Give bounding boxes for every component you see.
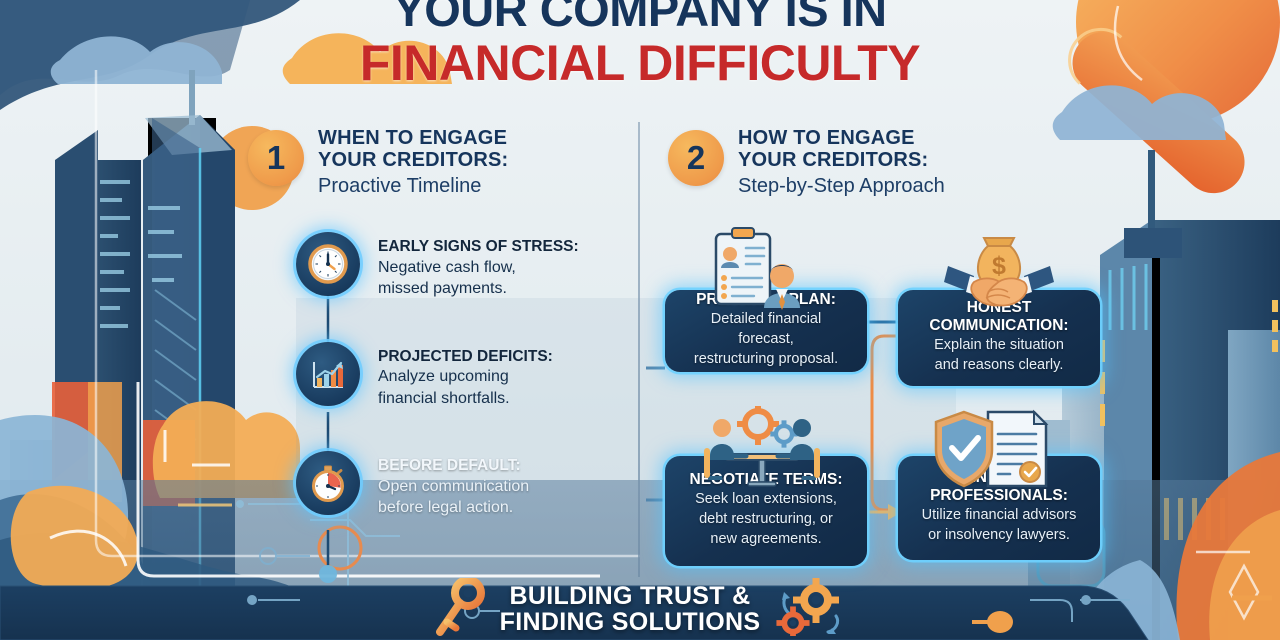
- section-number-badge-2: 2: [668, 130, 724, 186]
- timeline-item: BEFORE DEFAULT: Open communication befor…: [296, 451, 579, 519]
- banner-line-1: BUILDING TRUST &: [500, 583, 761, 610]
- stopwatch-icon: [296, 451, 360, 515]
- section-title-2-line-1: HOW TO ENGAGE: [738, 127, 945, 149]
- handshake-money-bag-icon: $: [940, 226, 1058, 317]
- shield-check-document-icon: [930, 406, 1056, 499]
- section-header-1: 1 WHEN TO ENGAGE YOUR CREDITORS: Proacti…: [248, 126, 508, 198]
- svg-text:$: $: [992, 252, 1006, 280]
- clock-icon: [296, 232, 360, 296]
- title-line-2: FINANCIAL DIFFICULTY: [0, 37, 1280, 90]
- title-line-1: YOUR COMPANY IS IN: [0, 0, 1280, 33]
- section-title-1-line-1: WHEN TO ENGAGE: [318, 127, 508, 149]
- timeline-item-desc-line-2: financial shortfalls.: [378, 389, 553, 409]
- card-desc-line-3: restructuring proposal.: [674, 351, 858, 369]
- section-subtitle-2: Step-by-Step Approach: [738, 174, 945, 198]
- section-header-2: 2 HOW TO ENGAGE YOUR CREDITORS: Step-by-…: [668, 126, 945, 198]
- card-desc-line-2: or insolvency lawyers.: [907, 527, 1091, 545]
- card-title-line-2: COMMUNICATION:: [907, 317, 1091, 335]
- negotiation-table-gears-icon: [700, 406, 824, 499]
- bottom-banner: BUILDING TRUST & FINDING SOLUTIONS: [0, 578, 1280, 640]
- banner-line-2: FINDING SOLUTIONS: [500, 609, 761, 636]
- bar-chart-growth-icon: [296, 342, 360, 406]
- timeline-list: EARLY SIGNS OF STRESS: Negative cash flo…: [296, 232, 579, 519]
- page-title: YOUR COMPANY IS IN FINANCIAL DIFFICULTY: [0, 0, 1280, 90]
- section-title-1-line-2: YOUR CREDITORS:: [318, 149, 508, 171]
- section-title-2-line-2: YOUR CREDITORS:: [738, 149, 945, 171]
- timeline-item-desc-line-1: Analyze upcoming: [378, 367, 553, 387]
- card-desc-line-2: forecast,: [674, 331, 858, 349]
- timeline-item-heading: PROJECTED DEFICITS:: [378, 348, 553, 367]
- timeline-item: EARLY SIGNS OF STRESS: Negative cash flo…: [296, 232, 579, 300]
- key-icon: [432, 578, 486, 640]
- section-subtitle-1: Proactive Timeline: [318, 174, 508, 198]
- card-desc-line-2: and reasons clearly.: [907, 357, 1091, 375]
- clipboard-person-icon: [704, 226, 812, 317]
- infographic-canvas: YOUR COMPANY IS IN FINANCIAL DIFFICULTY …: [0, 0, 1280, 640]
- section-number-badge-1: 1: [248, 130, 304, 186]
- timeline-item-desc-line-1: Negative cash flow,: [378, 258, 579, 278]
- card-desc-line-2: debt restructuring, or: [674, 511, 858, 529]
- column-divider: [638, 122, 640, 577]
- timeline-item-desc-line-1: Open communication: [378, 477, 529, 497]
- card-desc-line-3: new agreements.: [674, 531, 858, 549]
- timeline-item: PROJECTED DEFICITS: Analyze upcoming fin…: [296, 342, 579, 410]
- gears-icon: [774, 578, 848, 640]
- timeline-item-desc-line-2: before legal action.: [378, 498, 529, 518]
- timeline-item-desc-line-2: missed payments.: [378, 279, 579, 299]
- card-desc-line-1: Utilize financial advisors: [907, 507, 1091, 525]
- card-desc-line-1: Explain the situation: [907, 337, 1091, 355]
- timeline-item-heading: BEFORE DEFAULT:: [378, 457, 529, 476]
- timeline-item-heading: EARLY SIGNS OF STRESS:: [378, 238, 579, 257]
